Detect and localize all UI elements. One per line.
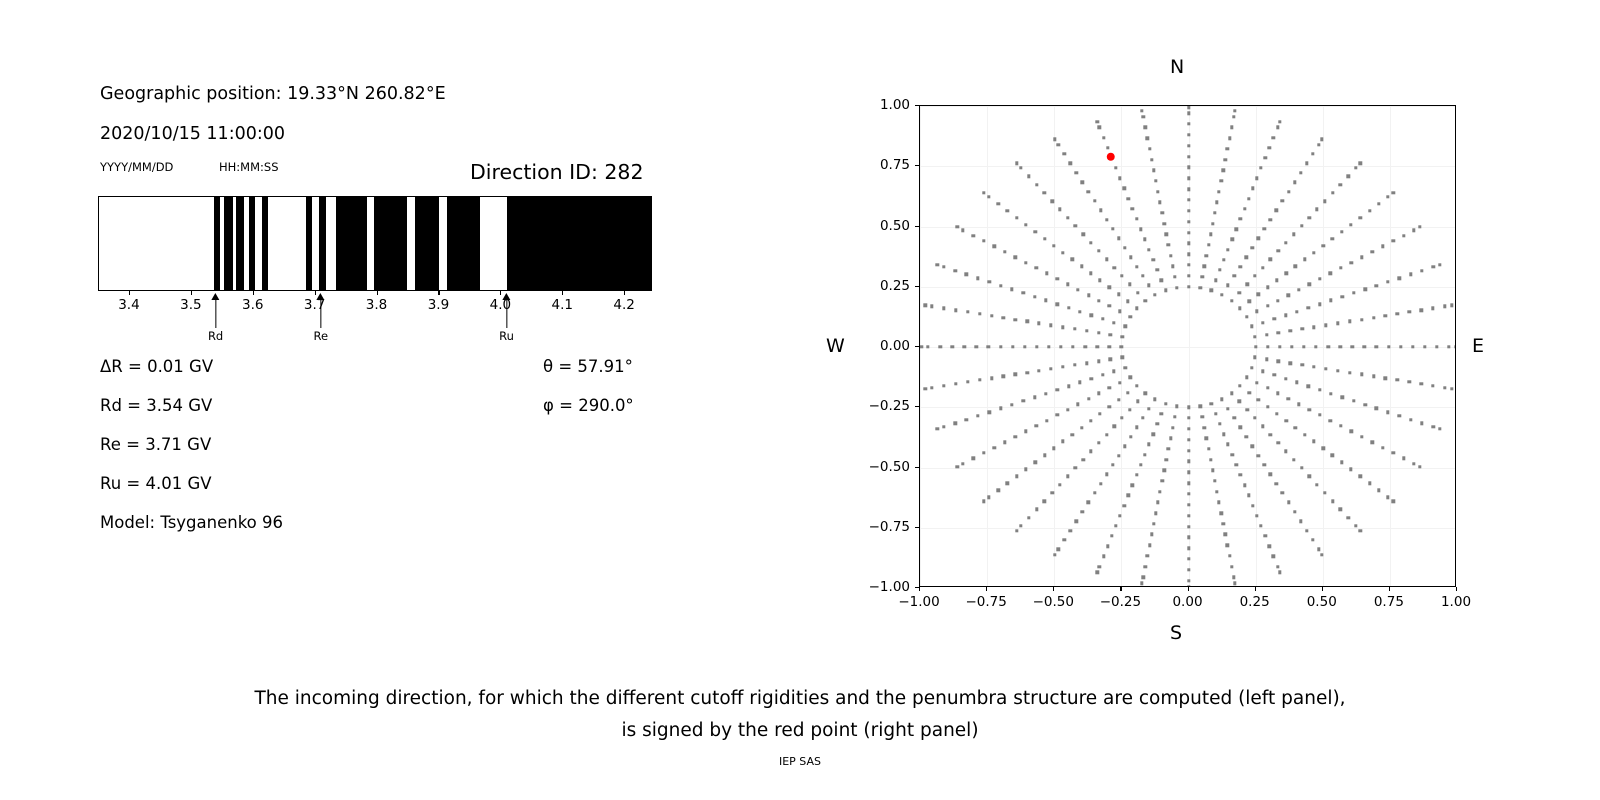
direction-point [999,407,1002,410]
selected-direction-point[interactable] [1106,152,1115,161]
direction-point [1318,302,1321,305]
direction-point [1224,158,1227,161]
direction-point [942,425,945,428]
direction-point [1045,419,1048,422]
direction-point [1135,426,1138,429]
direction-point [1312,325,1315,328]
direction-point [1117,293,1120,296]
direction-point [1397,276,1400,279]
direction-point [987,496,990,499]
direction-point [1112,370,1115,373]
direction-point [976,276,979,279]
direction-point [1061,365,1064,368]
direction-point [1391,191,1394,194]
direction-point [1099,209,1102,212]
direction-point [1450,304,1453,307]
direction-point [1163,222,1166,225]
direction-point [1303,258,1306,261]
direction-point [1187,122,1190,125]
direction-point [1203,265,1206,268]
direction-point [1250,325,1253,328]
direction-point [1078,310,1081,313]
direction-point [1308,216,1311,219]
direction-point [1152,168,1155,171]
direction-point [1250,366,1253,369]
direction-point [1259,524,1262,527]
direction-point [1384,376,1387,379]
direction-point [1261,425,1264,428]
direction-point [1156,190,1159,193]
direction-point [1276,126,1279,129]
direction-point [1187,438,1190,441]
direction-point [1160,278,1163,281]
direction-point [1329,272,1332,275]
direction-point [1257,293,1260,296]
direction-point [1255,381,1258,384]
direction-point [1214,412,1217,415]
direction-point [1443,305,1446,308]
direction-point [1201,275,1204,278]
direction-point [1105,473,1108,476]
direction-point [1420,269,1423,272]
direction-point [954,382,957,385]
direction-point [1126,391,1129,394]
direction-point [1112,321,1115,324]
direction-point [1359,216,1362,219]
direction-point [1105,218,1108,221]
polar-y-tick-label: −0.75 [854,519,910,535]
polar-x-tick-label: 0.00 [1172,594,1202,610]
direction-point [1108,386,1111,389]
direction-point [1165,458,1168,461]
direction-point [1160,211,1163,214]
direction-point [1090,377,1093,380]
direction-point [1081,510,1084,513]
direction-point [1331,191,1334,194]
direction-point [1129,315,1132,318]
direction-point [1187,416,1190,419]
direction-point [1118,177,1121,180]
direction-point [966,380,969,383]
direction-point [1124,325,1127,328]
direction-point [1187,198,1190,201]
direction-point [1136,400,1139,403]
date-format-label: YYYY/MM/DD [100,160,173,174]
direction-point [1175,405,1178,408]
direction-point [1093,491,1096,494]
direction-point [1127,494,1130,497]
direction-point [930,386,933,389]
direction-point [1247,300,1250,303]
direction-point [1173,275,1176,278]
direction-point [1432,425,1435,428]
direction-point [924,387,927,390]
direction-point [978,312,981,315]
direction-point [1010,403,1013,406]
direction-point [1263,463,1266,466]
arrow-head-icon [503,293,511,300]
direction-point [1418,225,1421,228]
direction-point [1085,329,1088,332]
direction-point [1408,310,1411,313]
direction-point [951,345,954,348]
direction-point [1350,430,1353,433]
direction-point [1061,325,1064,328]
direction-point [1059,345,1062,348]
direction-point [1243,207,1246,210]
direction-point [1143,238,1146,241]
direction-point [1158,490,1161,493]
direction-point [953,269,956,272]
direction-point [1044,392,1047,395]
direction-point [1322,447,1325,450]
direction-point [1141,274,1144,277]
direction-point [1135,384,1138,387]
direction-point [1117,398,1120,401]
time-format-label: HH:MM:SS [219,160,279,174]
direction-point [1273,373,1276,376]
direction-point [1109,358,1112,361]
direction-point [1187,481,1190,484]
penumbra-forbidden-band [224,197,233,290]
direction-point [1123,444,1126,447]
direction-point [1120,416,1123,419]
direction-point [1222,168,1225,171]
direction-point [1277,360,1280,363]
direction-point [1052,447,1055,450]
direction-point [1097,360,1100,363]
direction-point [1056,302,1059,305]
direction-point [1278,120,1281,123]
direction-point [1284,314,1287,317]
direction-point [1276,565,1279,568]
direction-point [1049,367,1052,370]
direction-point [1165,233,1168,236]
direction-point [1089,272,1092,275]
direction-point [1187,568,1190,571]
direction-point [1419,382,1422,385]
direction-grid-plot [919,105,1456,587]
direction-point [1187,274,1190,277]
polar-y-tick [915,226,919,227]
direction-point [1207,447,1210,450]
direction-point [1187,525,1190,528]
direction-point [1299,520,1302,523]
direction-point [1245,435,1248,438]
direction-point [1089,450,1092,453]
polar-y-tick-label: 1.00 [854,97,910,113]
direction-point [1096,345,1099,348]
param-theta: θ = 57.91° [543,357,633,376]
direction-point [1272,555,1275,558]
direction-point [1044,299,1047,302]
direction-point [1215,201,1218,204]
direction-point [1034,424,1037,427]
direction-point [1320,138,1323,141]
direction-point [1154,511,1157,514]
direction-point [1331,237,1334,240]
penumbra-tick-label: 3.8 [366,297,387,313]
direction-point [1266,386,1269,389]
polar-y-tick [915,527,919,528]
direction-point [1106,146,1109,149]
direction-point [1014,318,1017,321]
direction-point [1131,207,1134,210]
polar-y-tick-label: −0.50 [854,459,910,475]
penumbra-rigidity-markers: RdReRu [98,291,652,292]
polar-x-tick-label: 0.50 [1307,594,1337,610]
direction-point [1418,465,1421,468]
direction-point [1143,453,1146,456]
direction-point [1268,146,1271,149]
direction-point [1139,463,1142,466]
direction-point [1129,256,1132,259]
direction-point [1135,473,1138,476]
direction-point [1266,405,1269,408]
direction-point [1023,345,1026,348]
direction-point [1187,557,1190,560]
direction-point [1253,416,1256,419]
direction-point [1187,427,1190,430]
direction-point [1074,224,1077,227]
direction-point [1203,426,1206,429]
direction-point [1214,278,1217,281]
direction-point [1066,475,1069,478]
direction-point [1187,187,1190,190]
direction-point [1147,284,1150,287]
direction-point [1076,403,1079,406]
direction-point [1211,222,1214,225]
direction-point [1035,345,1038,348]
direction-point [1287,501,1290,504]
direction-point [1235,228,1238,231]
direction-point [1187,209,1190,212]
polar-y-tick [915,406,919,407]
direction-point [1108,304,1111,307]
direction-point [1043,191,1046,194]
direction-point [1275,209,1278,212]
direction-point [1066,408,1069,411]
direction-point [1187,579,1190,582]
direction-point [1160,412,1163,415]
penumbra-tick-label: 4.1 [551,297,572,313]
direction-point [1095,120,1098,123]
direction-point [1273,317,1276,320]
direction-point [1268,545,1271,548]
direction-point [1255,514,1258,517]
direction-point [1224,533,1227,536]
direction-point [1305,529,1308,532]
direction-point [1300,327,1303,330]
direction-point [942,307,945,310]
direction-point [1435,345,1438,348]
direction-point [1156,422,1159,425]
direction-point [1277,331,1280,334]
penumbra-forbidden-band [447,197,479,290]
param-re: Re = 3.71 GV [100,435,211,454]
direction-point [1238,400,1241,403]
direction-point [976,414,979,417]
direction-point [1397,414,1400,417]
figure-caption: The incoming direction, for which the di… [0,683,1600,747]
direction-point [1113,266,1116,269]
polar-x-tick-label: −0.75 [965,594,1006,610]
direction-point [1074,466,1077,469]
direction-point [1218,268,1221,271]
direction-point [1043,499,1046,502]
polar-x-tick [986,587,987,591]
direction-point [993,245,996,248]
direction-point [1266,304,1269,307]
direction-point [1147,443,1150,446]
direction-point [1297,288,1300,291]
direction-point [1095,571,1098,574]
direction-point [1027,175,1030,178]
direction-point [966,310,969,313]
direction-point [1372,316,1375,319]
direction-point [1022,291,1025,294]
direction-point [1121,356,1124,359]
direction-point [1312,440,1315,443]
direction-point [1230,565,1233,568]
direction-point [1011,345,1014,348]
direction-point [1150,533,1153,536]
direction-point [1360,373,1363,376]
polar-y-tick-label: 0.50 [854,218,910,234]
rigidity-marker-arrow-re [320,298,321,328]
penumbra-forbidden-band [319,197,326,290]
direction-point [1351,345,1354,348]
direction-point [1293,180,1296,183]
direction-point [1275,482,1278,485]
direction-point [1254,345,1257,348]
direction-point [1146,554,1149,557]
direction-point [1263,227,1266,230]
polar-y-tick [915,587,919,588]
direction-point [1126,300,1129,303]
direction-point [1339,183,1342,186]
direction-point [1049,324,1052,327]
direction-point [1102,555,1105,558]
polar-x-tick-label: −0.25 [1100,594,1141,610]
direction-point [1024,430,1027,433]
direction-point [1050,491,1053,494]
direction-point [1205,437,1208,440]
direction-point [1387,345,1390,348]
direction-point [1289,361,1292,364]
direction-point [1314,345,1317,348]
direction-point [997,489,1000,492]
direction-point [1002,375,1005,378]
penumbra-forbidden-band [262,197,268,290]
direction-point [1123,504,1126,507]
direction-point [1284,419,1287,422]
direction-point [1010,288,1013,291]
direction-point [1263,156,1266,159]
direction-point [1251,187,1254,190]
direction-point [999,345,1002,348]
direction-point [1232,115,1235,118]
direction-point [1315,208,1318,211]
direction-point [1322,244,1325,247]
direction-point [1396,378,1399,381]
direction-point [1339,424,1342,427]
direction-point [1438,263,1441,266]
direction-point [1118,310,1121,313]
direction-point [1232,576,1235,579]
direction-point [1045,272,1048,275]
direction-point [1245,283,1248,286]
polar-x-tick [1053,587,1054,591]
polar-x-tick-label: −0.50 [1033,594,1074,610]
direction-point [1171,426,1174,429]
direction-point [1147,407,1150,410]
direction-point [1043,237,1046,240]
polar-x-tick-label: 0.25 [1240,594,1270,610]
direction-point [1226,543,1229,546]
direction-point [1370,250,1373,253]
direction-point [1336,369,1339,372]
rigidity-marker-label-ru: Ru [499,329,514,343]
direction-point [1245,315,1248,318]
direction-point [1101,373,1104,376]
direction-point [1056,388,1059,391]
direction-point [1359,529,1362,532]
direction-point [1187,106,1190,109]
penumbra-tick-label: 3.4 [118,297,139,313]
direction-point [1014,256,1017,259]
direction-point [1247,197,1250,200]
direction-point [1450,387,1453,390]
direction-point [1147,248,1150,251]
direction-point [1093,199,1096,202]
direction-point [1148,543,1151,546]
direction-point [1341,396,1344,399]
direction-point [1066,283,1069,286]
direction-point [1277,249,1280,252]
direction-point [1058,483,1061,486]
direction-point [1019,524,1022,527]
credit-label: IEP SAS [0,755,1600,768]
direction-point [1311,538,1314,541]
direction-point [1431,307,1434,310]
direction-point [926,345,929,348]
direction-point [1187,536,1190,539]
direction-point [1409,418,1412,421]
direction-point [1315,483,1318,486]
direction-point [1053,553,1056,556]
polar-x-tick-label: 0.75 [1374,594,1404,610]
direction-point [1144,299,1147,302]
direction-point [1243,483,1246,486]
direction-point [1151,432,1154,435]
direction-point [1259,166,1262,169]
direction-point [1222,258,1225,261]
direction-point [997,202,1000,205]
polar-y-axis-ticks: −1.00−0.75−0.50−0.250.000.250.500.751.00 [919,105,920,587]
direction-point [1169,254,1172,257]
direction-point [1372,375,1375,378]
direction-point [1386,410,1389,413]
direction-point [1033,396,1036,399]
compass-north-label: N [1170,56,1184,78]
param-ru: Ru = 4.01 GV [100,474,212,493]
direction-point [1275,279,1278,282]
direction-point [1027,516,1030,519]
compass-south-label: S [1170,622,1182,644]
direction-point [1308,408,1311,411]
penumbra-tick-label: 3.9 [428,297,449,313]
